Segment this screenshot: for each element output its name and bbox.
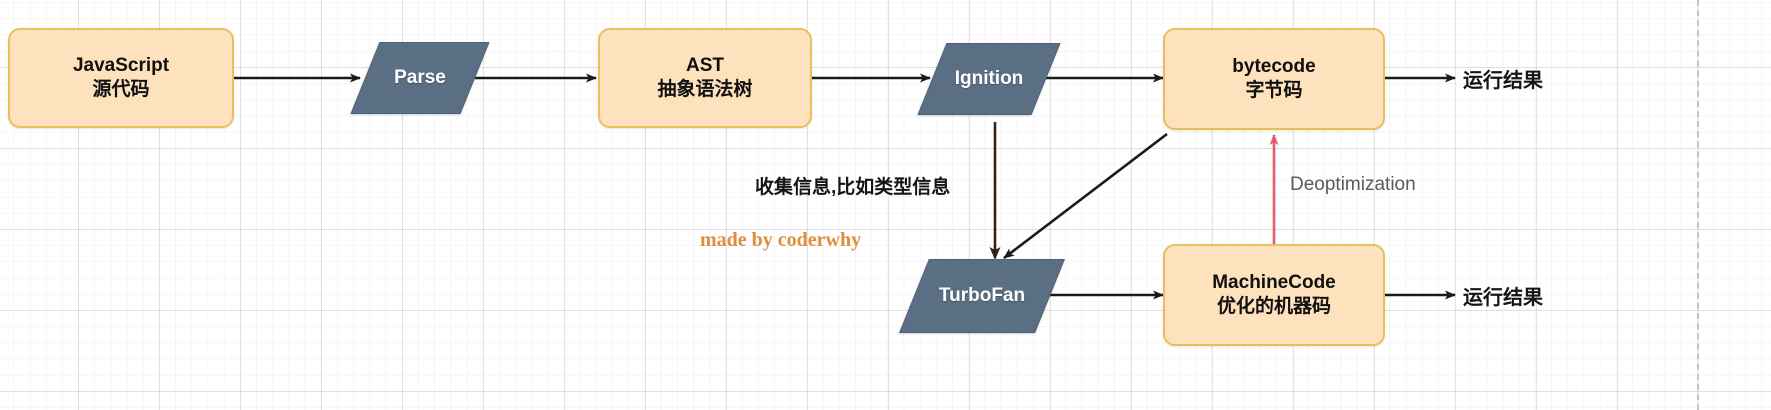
node-bytecode-line2: 字节码 [1245,79,1302,103]
node-machinecode-line1: MachineCode [1212,271,1336,295]
node-javascript[interactable]: JavaScript 源代码 [8,28,234,128]
node-javascript-line1: JavaScript [73,54,169,78]
node-parse-label: Parse [394,66,446,90]
node-ast-line1: AST [686,54,724,78]
node-bytecode-line1: bytecode [1232,55,1315,79]
terminal-result-bottom: 运行结果 [1463,281,1543,310]
arrow-layer [0,0,1771,410]
node-ignition-label: Ignition [955,67,1024,91]
diagram-canvas: JavaScript 源代码 Parse AST 抽象语法树 Ignition … [0,0,1771,410]
node-turbofan[interactable]: TurboFan [914,259,1050,333]
node-javascript-line2: 源代码 [92,78,149,102]
node-bytecode[interactable]: bytecode 字节码 [1163,28,1385,130]
node-parse[interactable]: Parse [365,42,475,114]
edge-bytecode-to-turbofan [1004,134,1167,258]
node-machinecode[interactable]: MachineCode 优化的机器码 [1163,244,1385,346]
terminal-result-top: 运行结果 [1463,64,1543,93]
node-ignition[interactable]: Ignition [932,43,1046,115]
node-ast-line2: 抽象语法树 [657,78,752,102]
page-break-guide [1697,0,1699,410]
edge-label-deoptimization: Deoptimization [1290,174,1416,196]
node-turbofan-label: TurboFan [939,284,1025,308]
watermark-made-by-coderwhy: made by coderwhy [700,229,861,252]
node-ast[interactable]: AST 抽象语法树 [598,28,812,128]
edge-label-collect-info: 收集信息,比如类型信息 [755,172,950,199]
node-machinecode-line2: 优化的机器码 [1217,295,1331,319]
